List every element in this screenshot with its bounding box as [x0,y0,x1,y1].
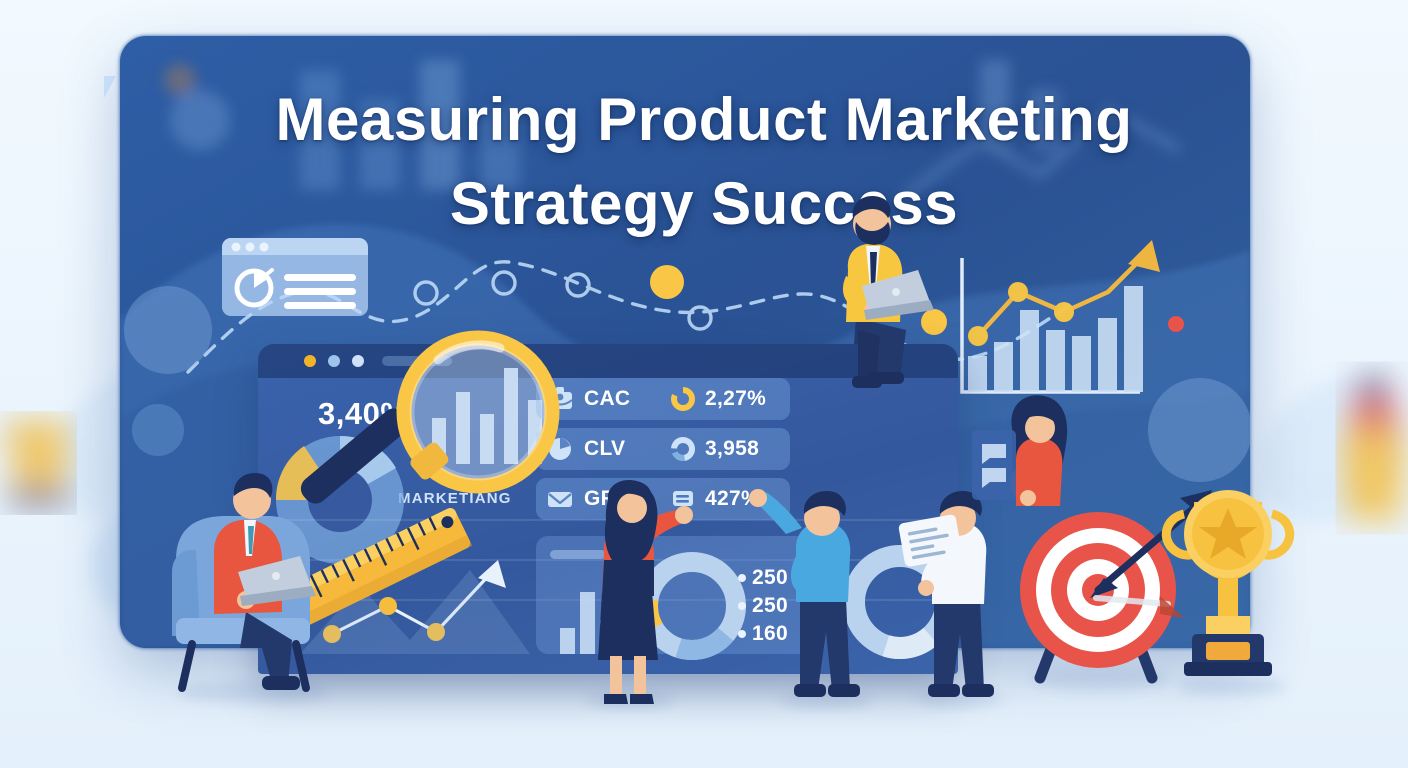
envelope-icon [546,486,574,512]
kpi-value-clv: 3,958 [705,437,759,461]
bullet-dot-icon [738,630,746,638]
blurred-trophy-left [0,420,70,506]
kpi-label-cac: CAC [584,387,670,411]
bullet-dot-icon [738,602,746,610]
bullet-dot-icon [738,574,746,582]
donut-split-icon [670,436,696,462]
illustration-canvas: Measuring Product Marketing Strategy Suc… [0,0,1408,768]
lower-card-pill-2 [614,550,648,559]
bullet-number-list: 250 250 160 [738,566,788,650]
kpi-label-clv: CLV [584,437,670,461]
dashboard-section-label: MARKETIANG [398,490,512,507]
trophy-handle-right [1256,514,1290,555]
bullet-value: 250 [752,566,788,590]
kpi-value-cac: 2,27% [705,387,766,411]
list-item: 250 [738,566,788,590]
chat-stack-icon [670,486,696,512]
kpi-value-gfn6: 427% [705,487,760,511]
bubble-titlebar [222,238,368,255]
bubble-tail [104,76,116,98]
window-dot-blue-1[interactable] [328,355,340,367]
kpi-row-clv[interactable]: CLV 3,958 [536,428,790,470]
blurred-trophy-right [1342,376,1404,520]
briefcase-icon [546,386,574,412]
donut-ring-icon [670,386,696,412]
list-item: 250 [738,594,788,618]
dashboard-headline-value: 3,40% [318,396,408,432]
speech-bubble-card [222,238,368,316]
bullet-value: 160 [752,622,788,646]
pie-chart-icon [546,436,574,462]
window-dot-yellow[interactable] [304,355,316,367]
titlebar-pill [382,356,452,366]
kpi-row-cac[interactable]: CAC 2,27% [536,378,790,420]
kpi-label-gfn6: GFN6 [584,487,670,511]
leaf-decor-right [1263,376,1402,523]
kpi-row-gfn6[interactable]: GFN6 427% [536,478,790,520]
kpi-list: CAC 2,27% CLV 3,958 GFN6 [536,378,790,528]
window-dot-blue-2[interactable] [352,355,364,367]
bullet-value: 250 [752,594,788,618]
lower-card-pill-1 [550,550,606,559]
list-item: 160 [738,622,788,646]
